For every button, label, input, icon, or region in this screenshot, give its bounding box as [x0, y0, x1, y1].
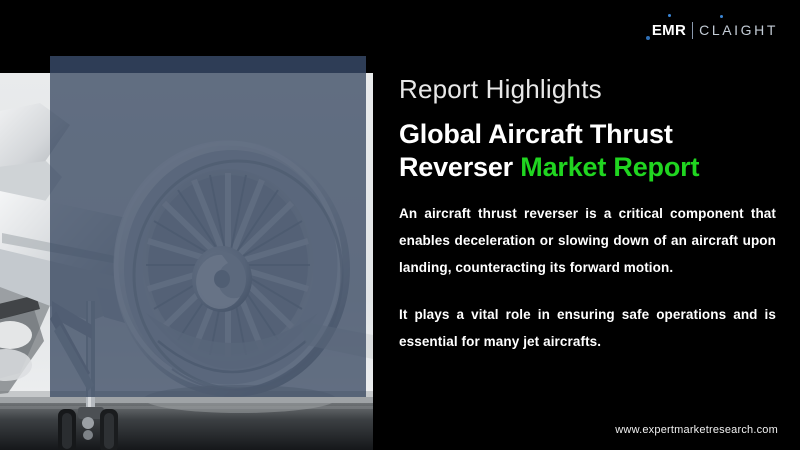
emr-claight-logo[interactable]: EMR CLAIGHT	[652, 19, 778, 41]
footer-website-url[interactable]: www.expertmarketresearch.com	[615, 424, 778, 436]
page-title: Global Aircraft Thrust Reverser Market R…	[399, 118, 776, 184]
headline-line-1: Global Aircraft Thrust	[399, 119, 673, 149]
aircraft-engine-illustration	[0, 73, 373, 450]
headline-line-2-accent: Market Report	[520, 152, 699, 182]
overlay-panel-top-strip	[50, 56, 366, 73]
logo-dot-icon	[668, 14, 671, 17]
logo-dot-icon	[646, 36, 650, 40]
body-paragraph-1: An aircraft thrust reverser is a critica…	[399, 200, 776, 281]
logo-primary-text: EMR	[652, 23, 686, 38]
logo-dot-icon	[720, 15, 723, 18]
content-column: Report Highlights Global Aircraft Thrust…	[399, 74, 776, 355]
headline-line-2-white: Reverser	[399, 152, 520, 182]
eyebrow-report-highlights: Report Highlights	[399, 74, 776, 104]
body-paragraph-2: It plays a vital role in ensuring safe o…	[399, 301, 776, 355]
logo-separator	[692, 22, 693, 39]
logo-secondary-text: CLAIGHT	[699, 23, 778, 37]
aircraft-engine-photo	[0, 73, 373, 450]
report-highlight-slide: EMR CLAIGHT Report Highlights Global Air…	[0, 0, 800, 450]
